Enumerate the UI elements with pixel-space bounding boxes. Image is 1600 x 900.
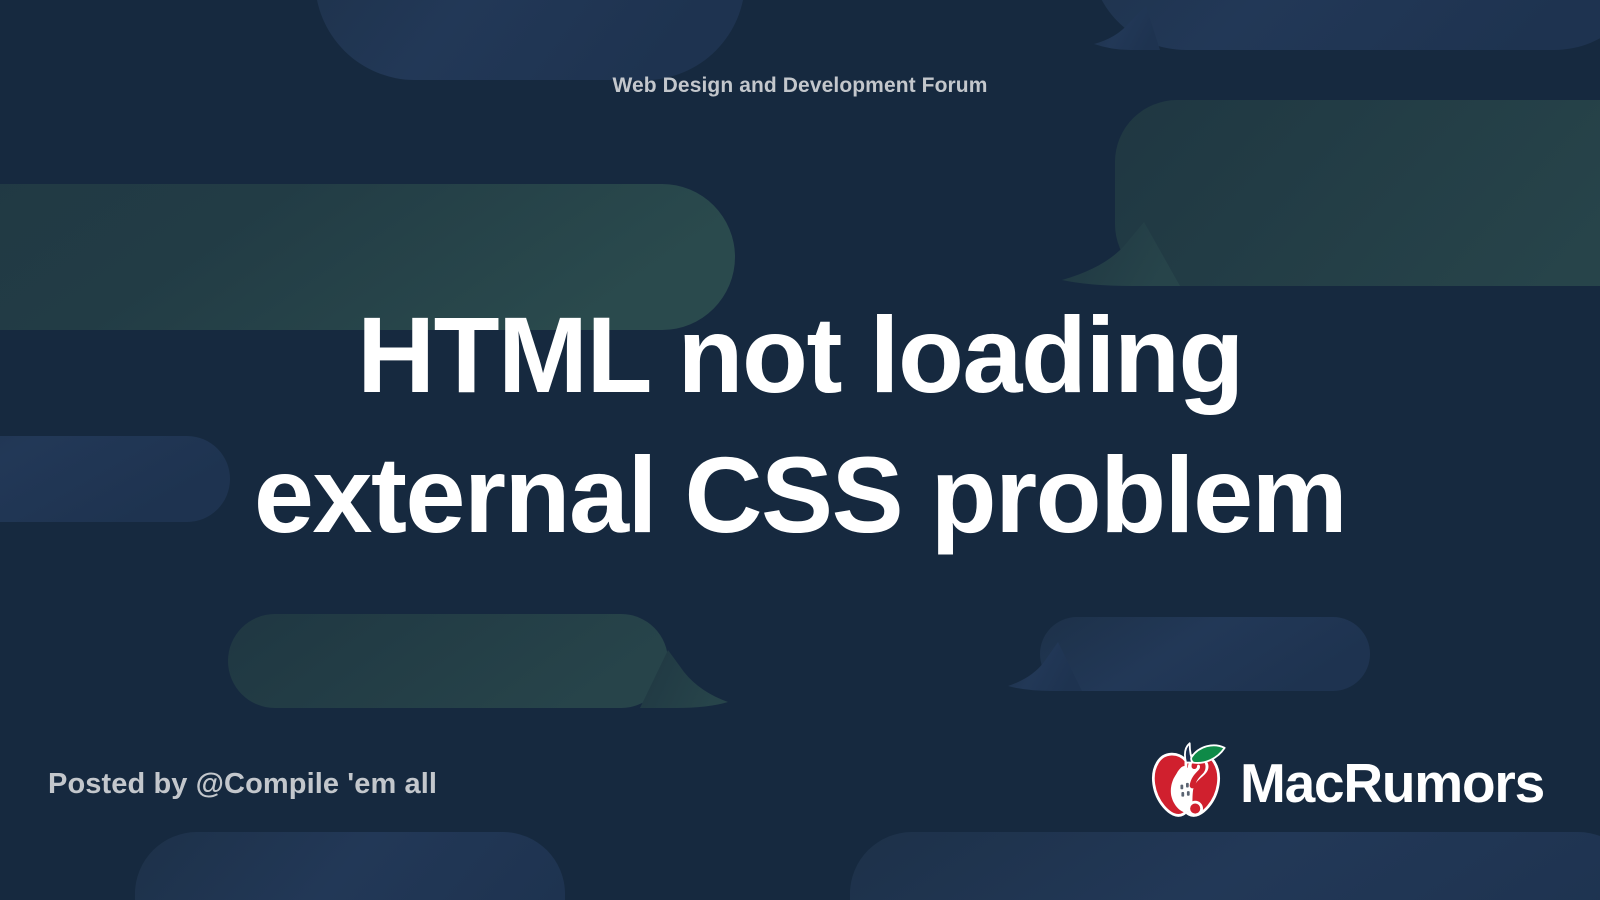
brand-wordmark: MacRumors — [1240, 756, 1544, 811]
forum-label: Web Design and Development Forum — [0, 74, 1600, 98]
social-share-card: Web Design and Development Forum HTML no… — [0, 0, 1600, 900]
page-title-line-1: HTML not loading — [50, 285, 1550, 425]
post-byline: Posted by @Compile 'em all — [48, 768, 437, 801]
apple-question-mark-logo-icon — [1140, 735, 1232, 827]
page-title: HTML not loading external CSS problem — [50, 285, 1550, 566]
page-title-line-2: external CSS problem — [50, 425, 1550, 565]
macrumors-brand: MacRumors — [1140, 735, 1544, 827]
